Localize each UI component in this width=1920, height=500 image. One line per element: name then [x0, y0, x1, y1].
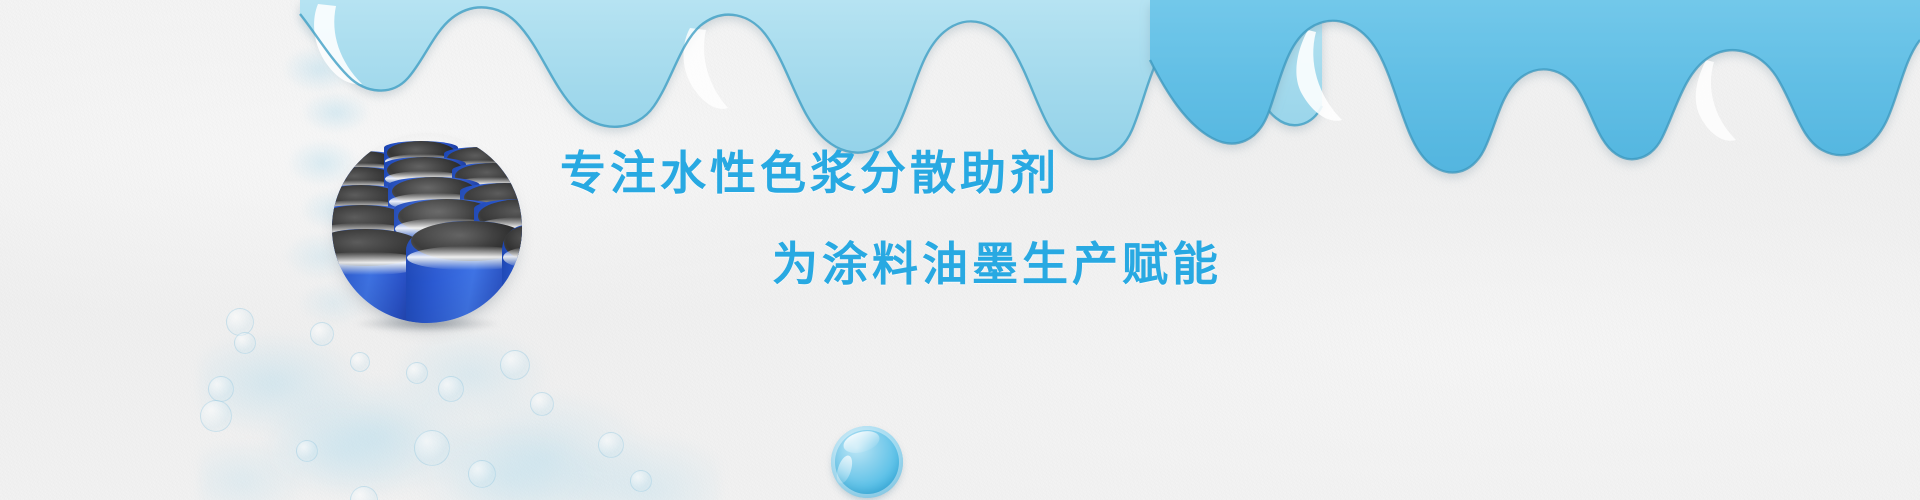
drip-highlight	[1696, 60, 1736, 141]
foam-bubble-icon	[296, 440, 318, 462]
foam-bubble-icon	[200, 400, 232, 432]
foam-bubble-group	[200, 300, 760, 500]
headline-block: 专注水性色浆分散助剂 为涂料油墨生产赋能	[560, 150, 1660, 287]
drip-shape-dark	[1150, 0, 1920, 172]
foam-bubble-icon	[350, 352, 370, 372]
foam-bubble-icon	[468, 460, 496, 488]
blue-drums-image	[332, 133, 522, 323]
foam-bubble-icon	[234, 332, 256, 354]
headline-line-1: 专注水性色浆分散助剂	[560, 150, 1660, 196]
foam-bubble-icon	[414, 430, 450, 466]
drip-highlight	[684, 28, 729, 109]
foam-bubble-icon	[500, 350, 530, 380]
foam-bubble-icon	[208, 376, 234, 402]
foam-bubble-icon	[630, 470, 652, 492]
foam-bubble-icon	[310, 322, 334, 346]
foam-bubble-icon	[350, 486, 378, 500]
promo-banner: 专注水性色浆分散助剂 为涂料油墨生产赋能	[0, 0, 1920, 500]
product-photo-circle	[332, 133, 522, 323]
foam-bubble-icon	[598, 432, 624, 458]
foam-bubble-icon	[530, 392, 554, 416]
headline-line-2: 为涂料油墨生产赋能	[772, 241, 1660, 287]
glossy-bubble-icon	[831, 426, 903, 498]
foam-bubble-icon	[406, 362, 428, 384]
foam-bubble-icon	[438, 376, 464, 402]
